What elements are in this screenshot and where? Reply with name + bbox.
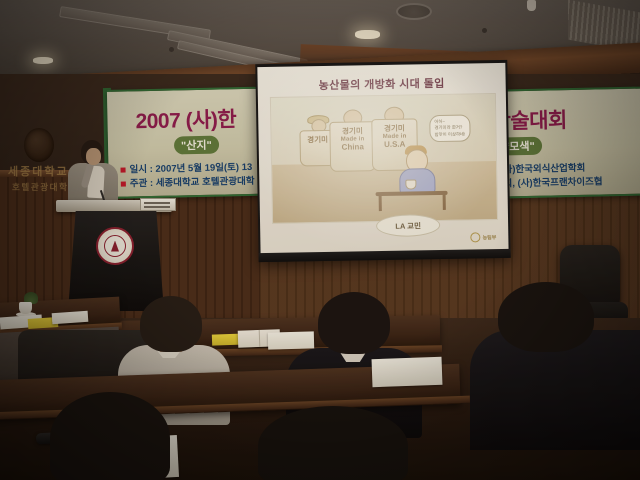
slide-caption-cloud: LA 교민 — [376, 214, 440, 237]
ceiling-light — [33, 57, 53, 64]
rice-sack-label: 경기미 — [372, 122, 416, 134]
ceiling-fixture-dot — [169, 47, 174, 52]
foreground-person-head — [50, 392, 170, 480]
banner-right: 학술대회 방향모색" : (사)한국외식산업학회 협회, (사)한국프랜차이즈협 — [497, 86, 640, 198]
university-emblem-icon — [24, 128, 54, 162]
rice-sack-country: China — [331, 142, 375, 152]
banner-left-line2-text: 주관 : 세종대학교 호텔관광대학 — [130, 176, 255, 190]
coffee-cup — [19, 302, 32, 314]
university-seal-icon — [96, 227, 134, 265]
projection-screen: 농산물의 개방화 시대 돌입 경기미 경기미 Made in China — [255, 60, 510, 262]
audience-person-head — [498, 282, 594, 352]
banner-left-title: 2007 (사)한 — [135, 103, 236, 135]
sprinkler-icon — [527, 0, 536, 11]
rice-sack-china: 경기미 Made in China — [329, 121, 376, 172]
conference-hall-photo: 세종대학교 호텔관광대학 2007 (사)한 "산지" 일시 : 2007년 5… — [0, 0, 640, 480]
speech-line-3: 밥맛이 이상하네! — [434, 131, 465, 138]
banner-left-subtitle: "산지" — [174, 136, 219, 155]
speaker-nameplate — [140, 198, 176, 211]
audience-person-head — [140, 296, 202, 352]
bullet-icon — [121, 168, 126, 173]
slide-logo-text: 농림부 — [482, 234, 496, 241]
wall-college-name: 호텔관광대학 — [12, 181, 69, 193]
speaker-face — [86, 148, 101, 165]
ceiling-fixture-dot — [482, 28, 487, 33]
wall-university-name: 세종대학교 — [8, 163, 69, 179]
program-paper — [268, 331, 314, 349]
projected-slide: 농산물의 개방화 시대 돌입 경기미 경기미 Made in China — [257, 63, 508, 254]
ministry-logo-icon — [470, 232, 480, 242]
slide-title: 농산물의 개방화 시대 돌입 — [258, 74, 506, 94]
open-booklet — [372, 357, 443, 387]
ceiling-speaker-grille — [396, 3, 432, 20]
bullet-icon — [121, 182, 126, 187]
banner-left-line2: 주관 : 세종대학교 호텔관광대학 — [121, 173, 255, 190]
rice-sack-label: 경기미 — [330, 125, 374, 137]
ceiling-light — [355, 30, 380, 39]
slide-cartoon: 경기미 경기미 Made in China 경기미 Made in U.S.A — [270, 93, 498, 224]
rice-bowl — [405, 179, 416, 189]
speech-bubble: 어허~ 경기미라 한거? 밥맛이 이상하네! — [429, 114, 470, 142]
slide-logo: 농림부 — [470, 232, 496, 242]
cartoon-table-leg — [379, 195, 382, 211]
cartoon-table-leg — [443, 194, 446, 210]
banner-right-line2: 협회, (사)한국프랜차이즈협 — [497, 173, 603, 189]
slide-caption-text: LA 교민 — [395, 220, 421, 231]
foreground-person-head — [258, 406, 408, 480]
audience-person-head — [318, 292, 390, 354]
